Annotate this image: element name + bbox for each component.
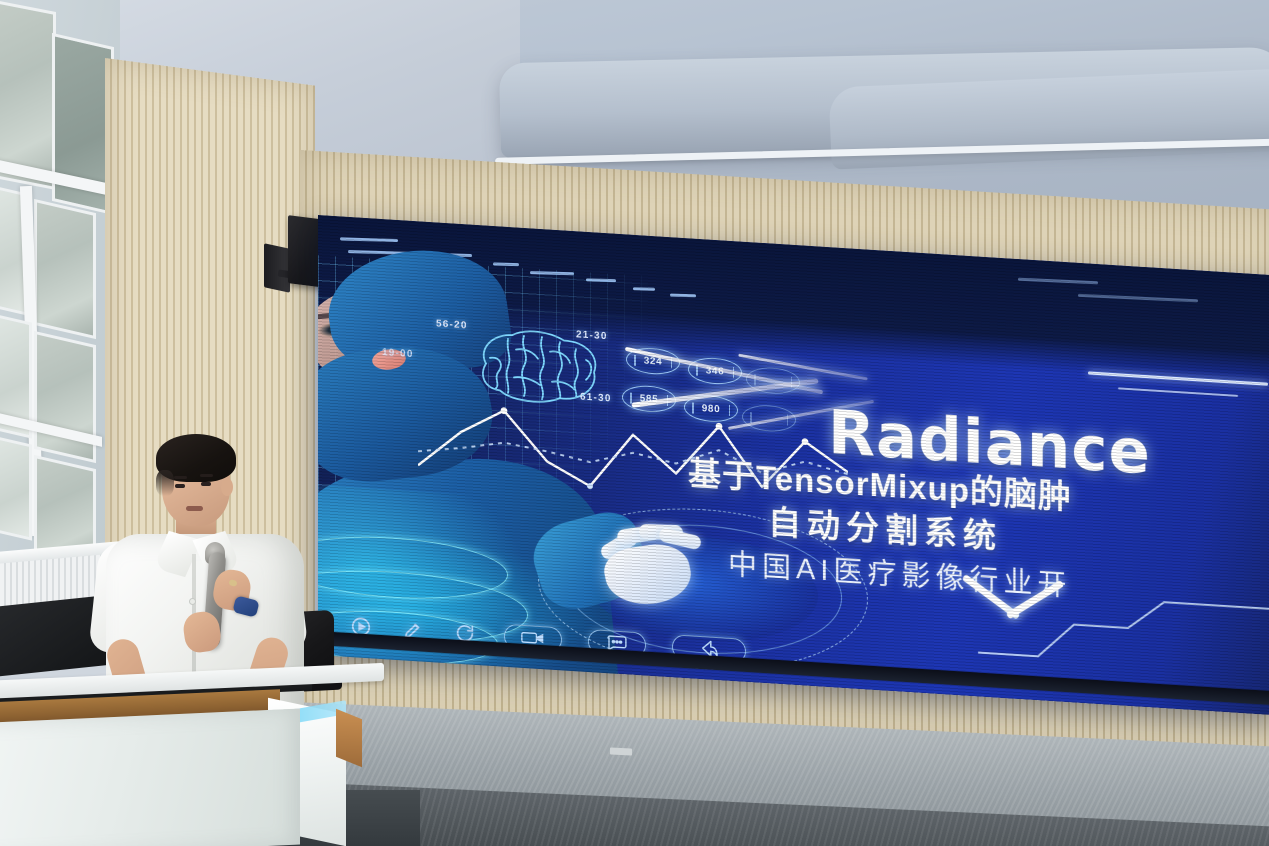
dash-mark <box>1078 294 1198 302</box>
presentation-photo-scene: 56-20 21-30 61-30 19-00 324 346 585 980 <box>0 0 1269 846</box>
podium <box>0 672 400 846</box>
presenter-eye-left <box>175 484 185 488</box>
shirt-button <box>189 598 196 605</box>
podium-wood-edge <box>336 709 362 768</box>
metric-label-1: 56-20 <box>436 318 468 331</box>
chevron-down-graphic <box>958 587 1068 636</box>
presenter-hair-fade <box>156 470 174 496</box>
dash-mark <box>670 294 696 298</box>
presenter-ear <box>221 478 233 496</box>
metric-label-2: 21-30 <box>576 329 608 342</box>
podium-front-face <box>0 709 300 846</box>
dash-mark <box>1018 278 1098 285</box>
window-pane-7 <box>0 435 32 540</box>
gloved-hand <box>593 512 713 612</box>
metric-label-4: 19-00 <box>382 347 414 360</box>
presenter-brow-left <box>174 476 187 479</box>
stage-floor-inlay <box>610 748 632 756</box>
speaker-bracket <box>264 243 290 293</box>
presenter-mouth <box>186 506 203 511</box>
presenter-eye-right <box>201 482 211 486</box>
presenter-brow-right <box>200 474 213 477</box>
window-pane-4 <box>34 199 96 339</box>
